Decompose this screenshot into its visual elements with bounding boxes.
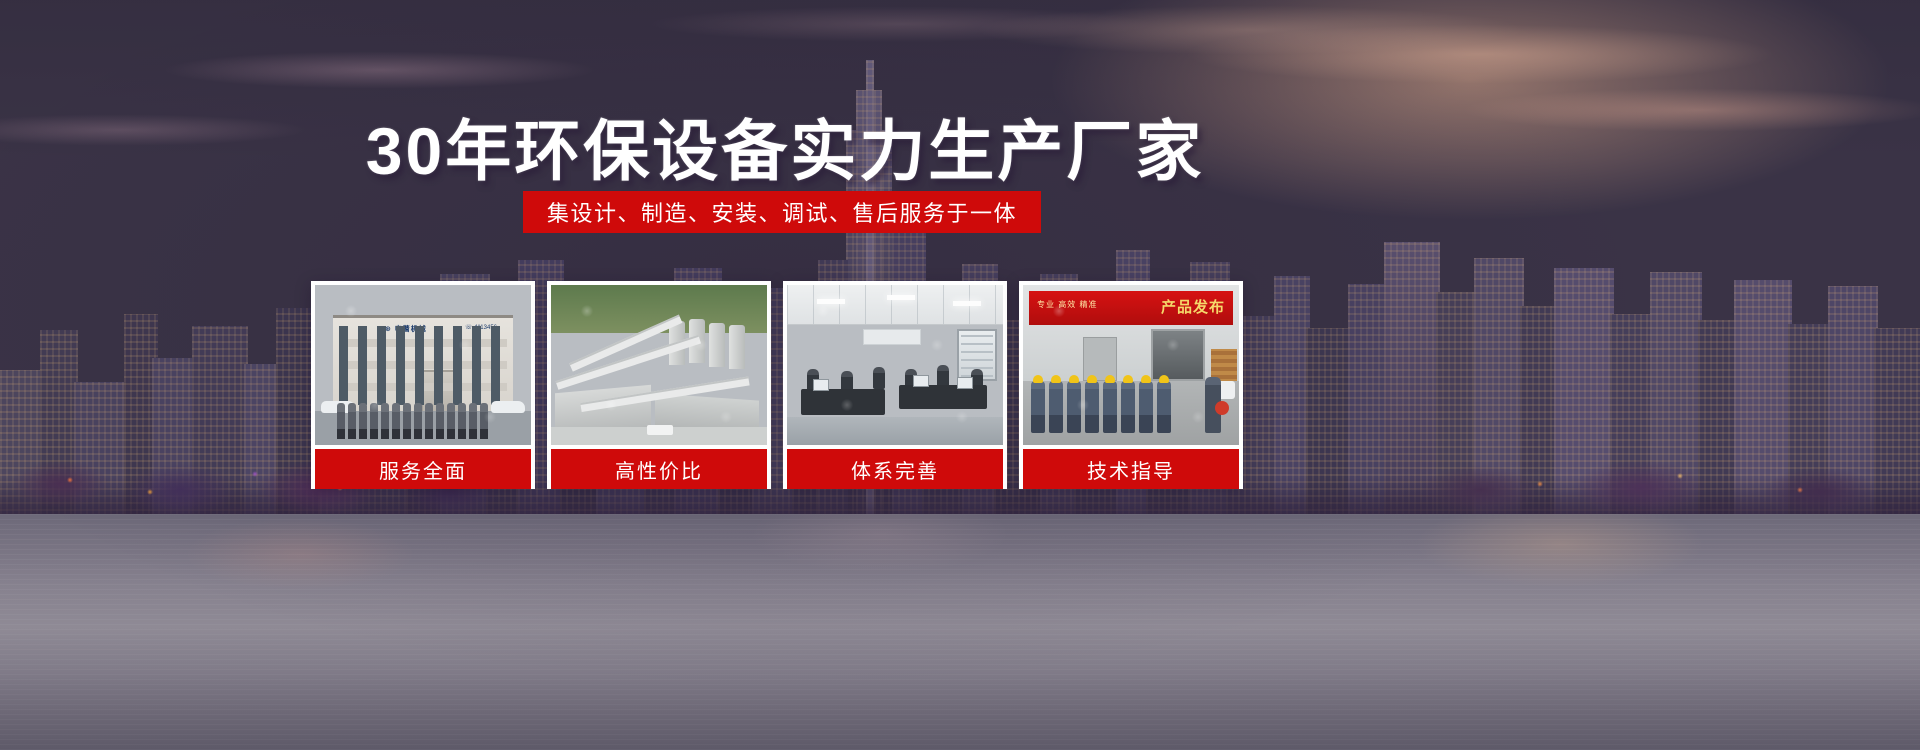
building-sign-text: ⊛ 申蓍机械 [385,324,427,334]
subtitle-text: 集设计、制造、安装、调试、售后服务于一体 [547,196,1017,228]
subtitle-banner: 集设计、制造、安装、调试、售后服务于一体 [523,191,1041,233]
workshop-workers-photo: 专业 高效 精准 产品发布 [1023,285,1239,445]
feature-card-list: ⊛ 申蓍机械 ☏ 4113456 服务全面 高性价比 [311,281,1261,489]
industrial-plant-aerial-photo [551,285,767,445]
feature-card-1[interactable]: ⊛ 申蓍机械 ☏ 4113456 服务全面 [311,281,535,489]
feature-card-caption: 技术指导 [1023,449,1239,489]
page-title: 30年环保设备实力生产厂家 [0,98,1570,194]
feature-card-caption: 体系完善 [787,449,1003,489]
feature-card-caption: 服务全面 [315,449,531,489]
water-reflection [0,514,1920,634]
feature-card-4[interactable]: 专业 高效 精准 产品发布 技术指导 [1019,281,1243,489]
workshop-banner: 专业 高效 精准 产品发布 [1029,291,1233,325]
feature-card-3[interactable]: 体系完善 [783,281,1007,489]
workshop-banner-sub: 专业 高效 精准 [1037,299,1097,310]
feature-card-2[interactable]: 高性价比 [547,281,771,489]
company-office-building-staff-photo: ⊛ 申蓍机械 ☏ 4113456 [315,285,531,445]
building-phone-text: ☏ 4113456 [465,324,497,331]
office-interior-staff-photo [787,285,1003,445]
feature-card-caption: 高性价比 [551,449,767,489]
hero-banner: 30年环保设备实力生产厂家 集设计、制造、安装、调试、售后服务于一体 ⊛ 申蓍机… [0,0,1920,750]
workshop-banner-main: 产品发布 [1161,296,1225,317]
river-water [0,514,1920,750]
